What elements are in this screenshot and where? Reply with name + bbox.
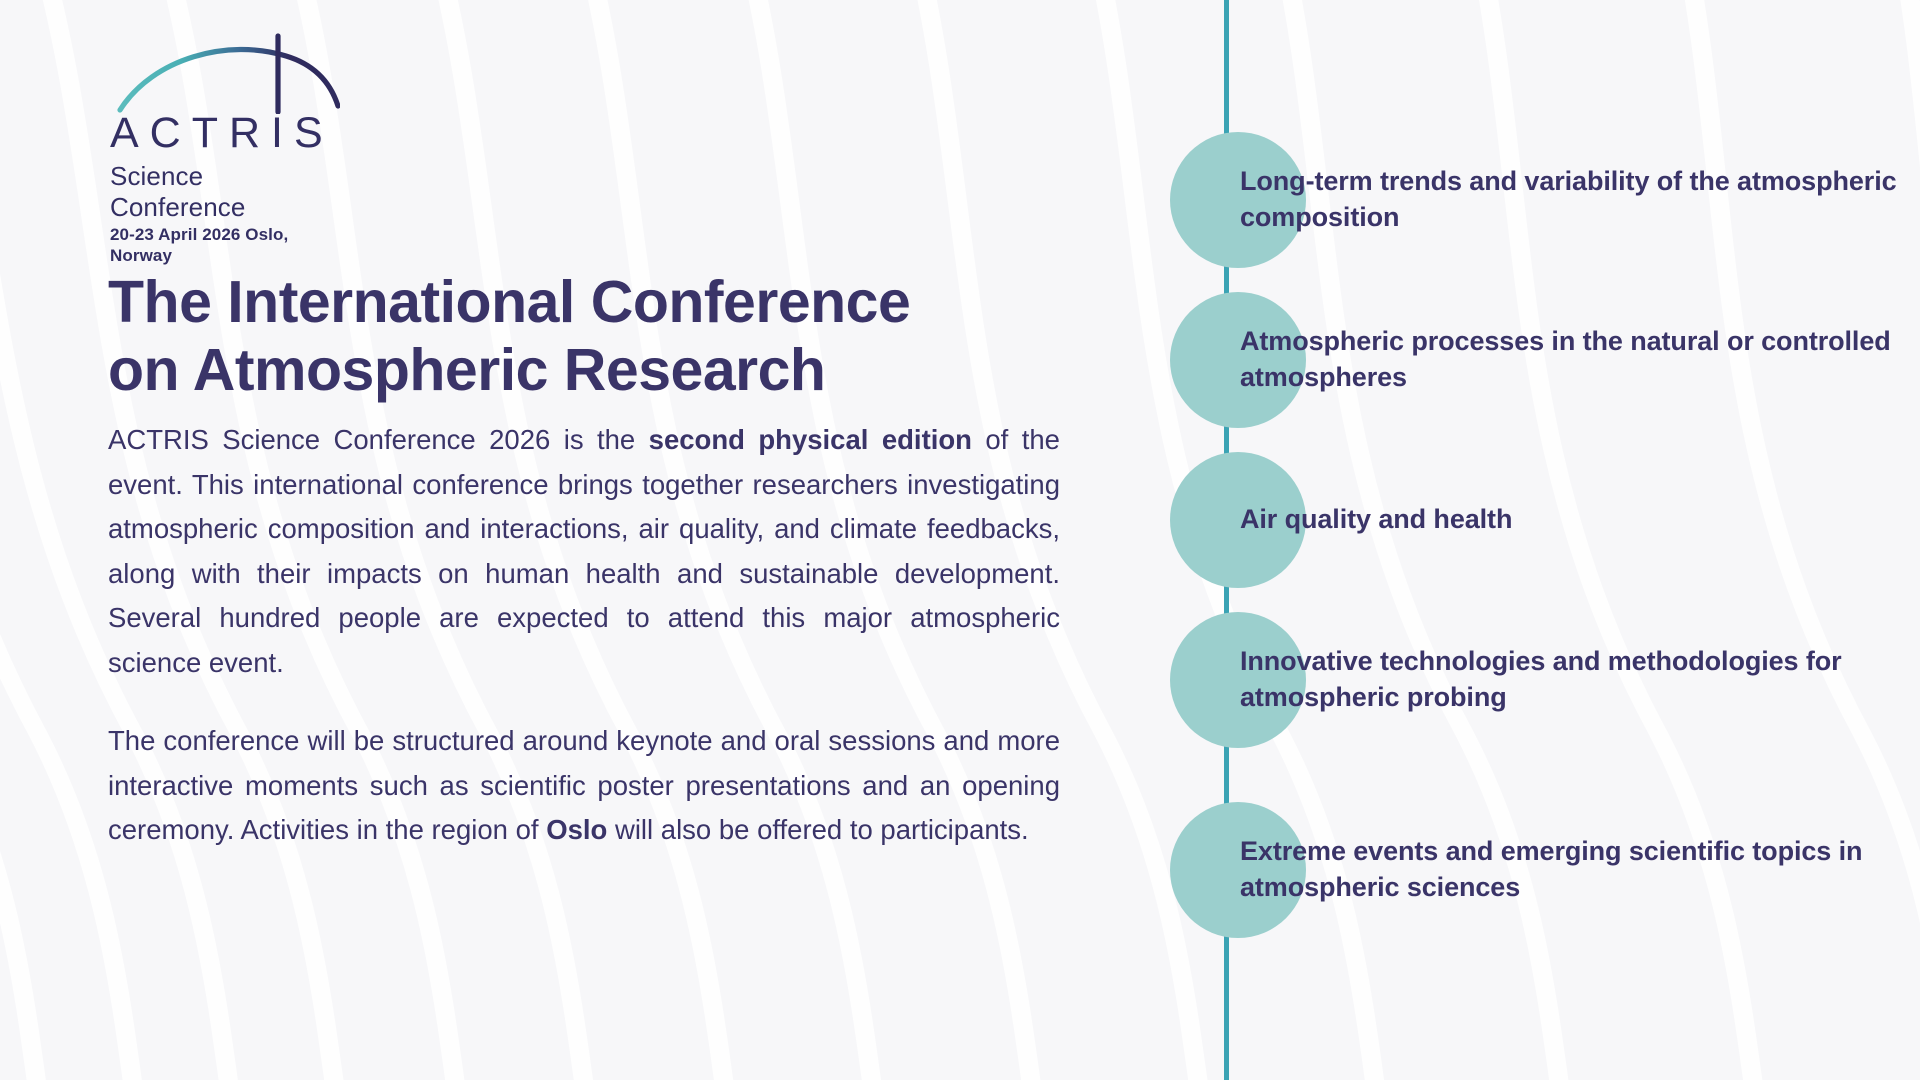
left-content-column: ACTRIS Science Conference 20-23 April 20… <box>0 0 1180 1080</box>
paragraph-2-emphasis: Oslo <box>546 814 607 845</box>
page-title: The International Conference on Atmosphe… <box>108 268 1088 405</box>
topic-label: Extreme events and emerging scientific t… <box>1240 834 1912 905</box>
paragraph-2-text-b: will also be offered to participants. <box>607 814 1028 845</box>
topic-item[interactable]: Extreme events and emerging scientific t… <box>1170 802 1920 938</box>
description-paragraph-1: ACTRIS Science Conference 2026 is the se… <box>108 418 1060 685</box>
topic-label: Innovative technologies and methodologie… <box>1240 644 1912 715</box>
description-body: ACTRIS Science Conference 2026 is the se… <box>108 418 1060 853</box>
actris-logo: ACTRIS Science Conference 20-23 April 20… <box>108 32 344 266</box>
topics-list: Long-term trends and variability of the … <box>1170 0 1920 1080</box>
topic-item[interactable]: Atmospheric processes in the natural or … <box>1170 292 1920 428</box>
page-title-line1: The International Conference <box>108 269 910 335</box>
topic-label: Atmospheric processes in the natural or … <box>1240 324 1912 395</box>
paragraph-1-emphasis: second physical edition <box>649 424 972 455</box>
topic-item[interactable]: Air quality and health <box>1170 452 1920 588</box>
description-paragraph-2: The conference will be structured around… <box>108 719 1060 853</box>
topic-label: Long-term trends and variability of the … <box>1240 164 1912 235</box>
topic-item[interactable]: Innovative technologies and methodologie… <box>1170 612 1920 748</box>
logo-subtitle: Science Conference <box>110 161 344 222</box>
paragraph-1-text-b: of the event. This international confere… <box>108 424 1060 678</box>
page-title-line2: on Atmospheric Research <box>108 337 825 403</box>
logo-dates-location: 20-23 April 2026 Oslo, Norway <box>110 225 344 266</box>
topic-item[interactable]: Long-term trends and variability of the … <box>1170 132 1920 268</box>
logo-wordmark: ACTRIS <box>110 112 344 155</box>
paragraph-1-text-a: ACTRIS Science Conference 2026 is the <box>108 424 649 455</box>
arc-antenna-icon <box>108 32 340 114</box>
topic-label: Air quality and health <box>1240 502 1912 538</box>
poster-canvas: ACTRIS Science Conference 20-23 April 20… <box>0 0 1920 1080</box>
